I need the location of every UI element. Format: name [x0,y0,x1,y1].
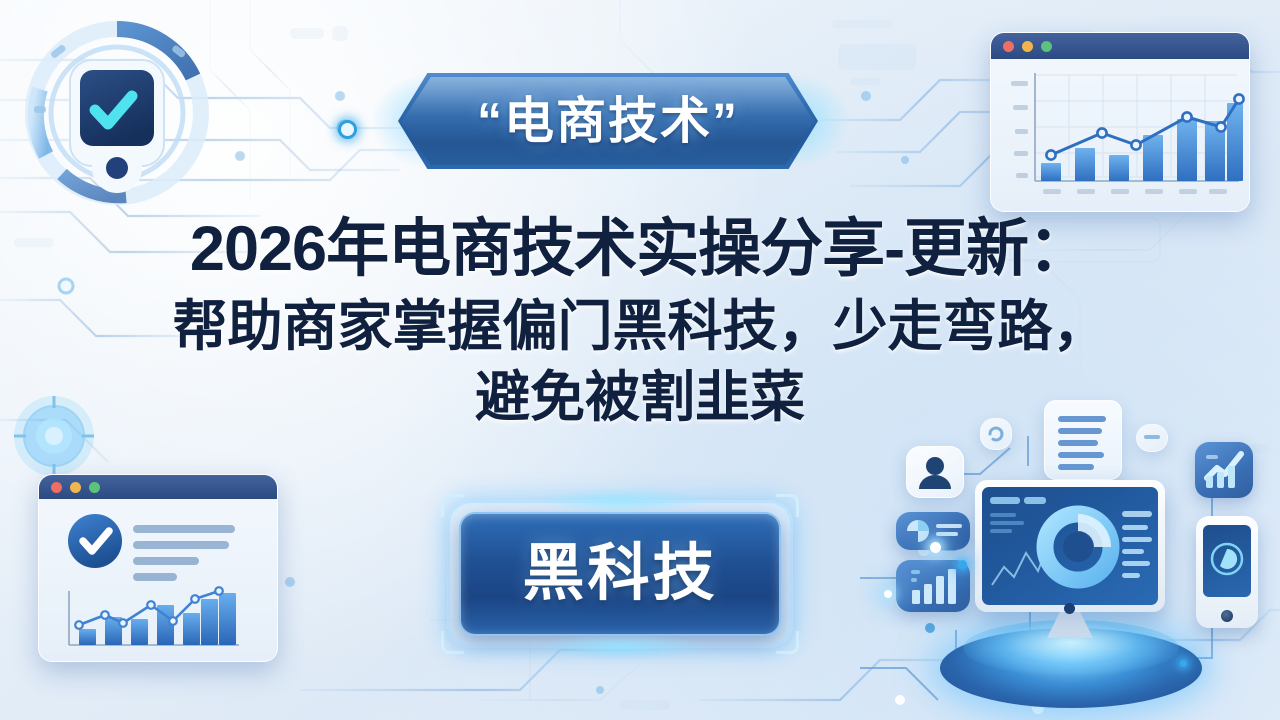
top-badge[interactable]: “电商技术” [398,73,818,169]
bar-line-chart-top [991,59,1249,211]
badge-corner-br [776,631,799,654]
headline-block: 2026年电商技术实操分享-更新： 帮助商家掌握偏门黑科技，少走弯路， 避免被割… [0,212,1280,430]
browser-titlebar [991,33,1249,59]
phone-home-button[interactable] [1221,610,1233,622]
glow-node-d [1180,660,1187,667]
check-device-badge [22,18,212,208]
glow-node-c [884,590,892,598]
bottom-badge-panel: 黑科技 [459,512,781,636]
close-icon[interactable] [1003,41,1014,52]
top-badge-label: “电商技术” [477,96,739,146]
glow-node-a [930,542,941,553]
bar-line-chart-bottom [39,499,277,661]
glow-node-b [958,560,967,569]
phone-screen [1203,525,1251,597]
phone-app-icon [1203,525,1251,597]
bottom-badge[interactable]: 黑科技 [447,500,793,648]
smartphone-icon[interactable] [1196,516,1258,628]
headline-line-3: 避免被割韭菜 [0,365,1280,430]
bottom-badge-label: 黑科技 [522,543,717,605]
maximize-icon[interactable] [1041,41,1052,52]
badge-corner-tl [441,494,464,517]
browser-card-chart-bottom[interactable] [38,474,278,662]
badge-corner-bl [441,631,464,654]
headline-line-2: 帮助商家掌握偏门黑科技，少走弯路， [0,294,1280,359]
maximize-icon[interactable] [89,482,100,493]
monitor-icon[interactable] [975,480,1165,612]
trend-up-icon [1195,442,1253,498]
minimize-icon[interactable] [1022,41,1033,52]
minimize-icon[interactable] [70,482,81,493]
trend-up-tile[interactable] [1195,442,1253,498]
badge-corner-tr [776,494,799,517]
user-avatar-tile[interactable] [906,446,964,498]
browser-card-chart-top[interactable] [990,32,1250,212]
close-icon[interactable] [51,482,62,493]
browser-titlebar-2 [39,475,277,499]
glow-node-e [338,120,357,139]
user-avatar-icon [907,447,963,497]
headline-line-1: 2026年电商技术实操分享-更新： [0,212,1280,286]
monitor-power-dot [1064,603,1075,614]
donut-chart-icon [982,487,1158,605]
poster-canvas: “电商技术” 2026年电商技术实操分享-更新： 帮助商家掌握偏门黑科技，少走弯… [0,0,1280,720]
monitor-screen [982,487,1158,605]
